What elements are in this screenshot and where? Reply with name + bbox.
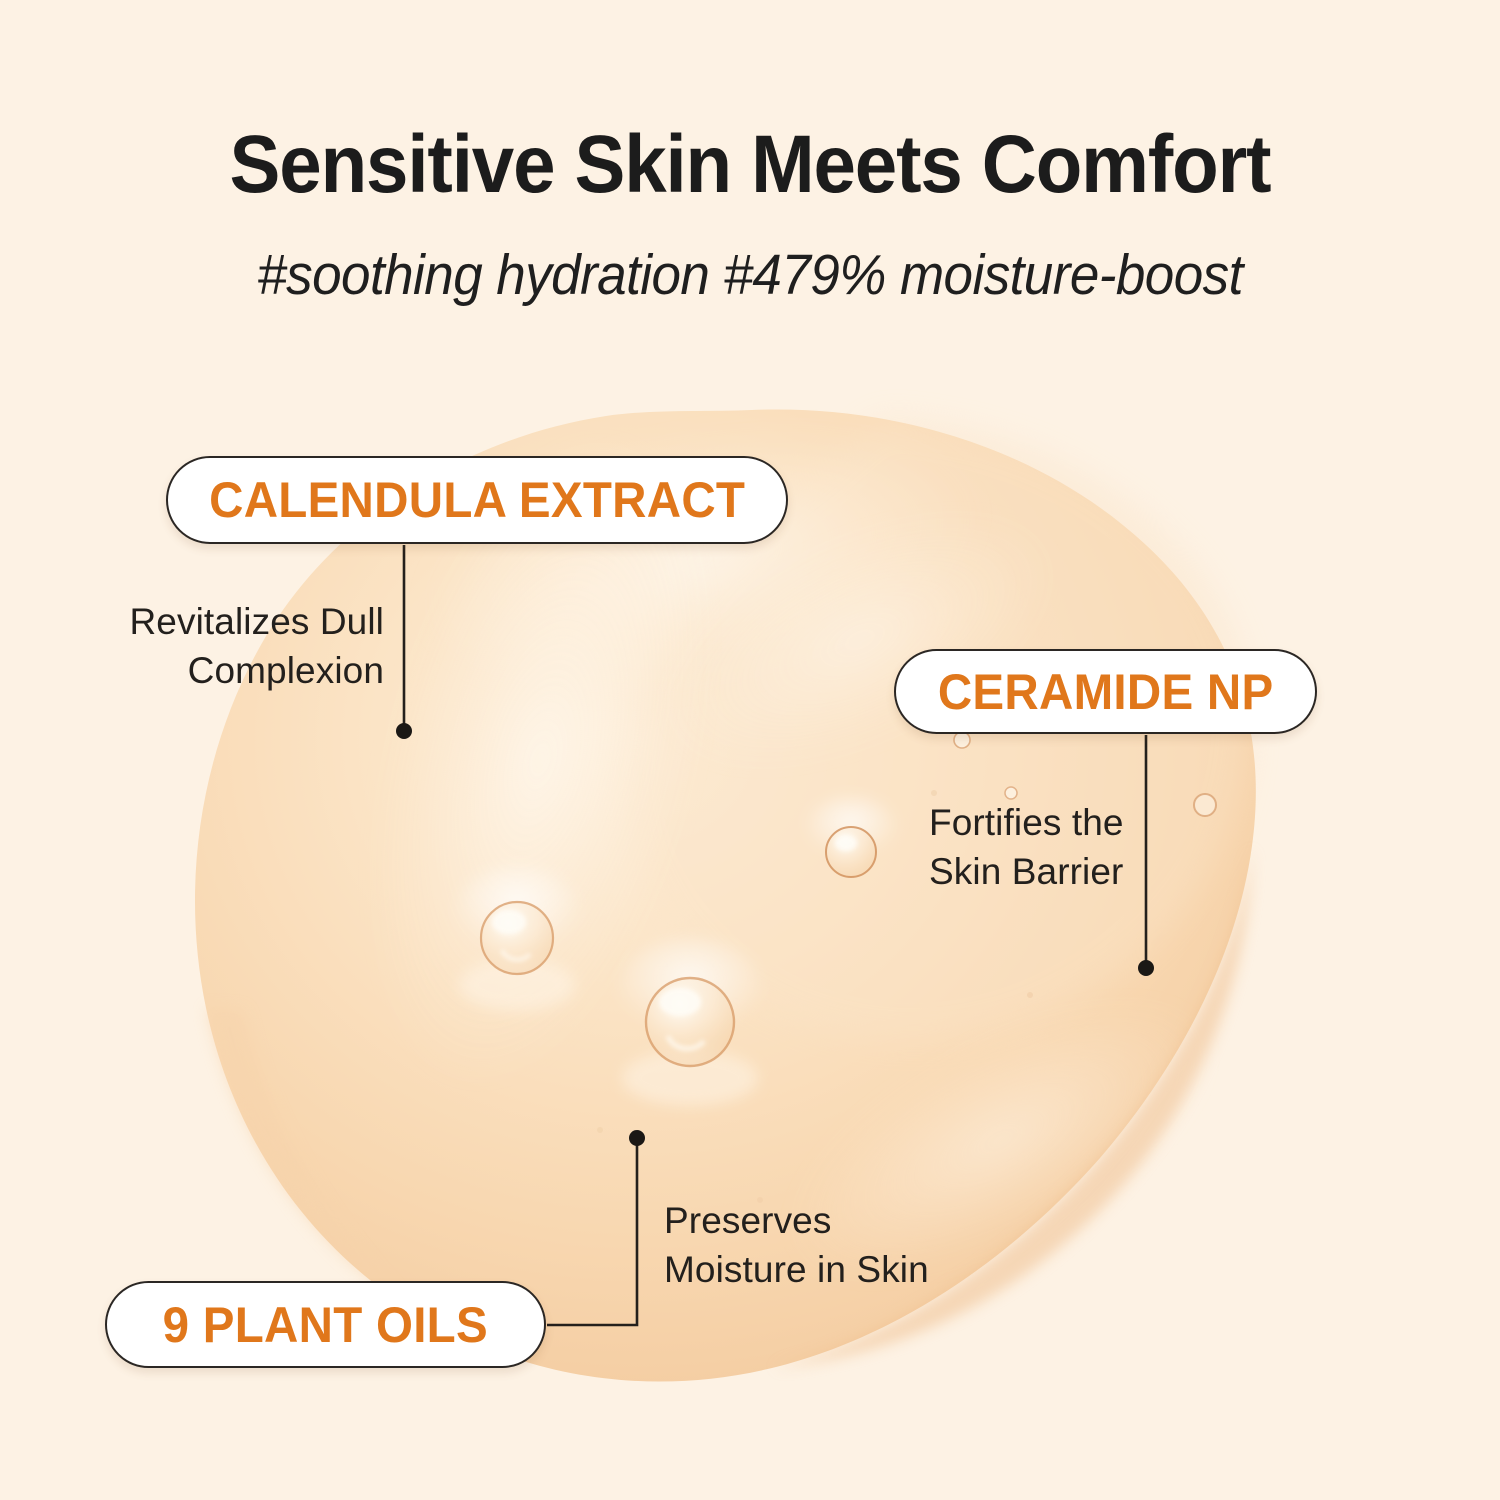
- serum-bubble-speck-4: [597, 1127, 603, 1133]
- benefit-caption-line: Preserves: [664, 1196, 964, 1245]
- benefit-caption-line: Complexion: [84, 646, 384, 695]
- ingredient-pill-ceramide-np[interactable]: CERAMIDE NP: [894, 649, 1317, 734]
- serum-bubble-small-1: [954, 732, 970, 748]
- page-title: Sensitive Skin Meets Comfort: [53, 118, 1448, 212]
- benefit-caption-calendula: Revitalizes Dull Complexion: [84, 597, 384, 695]
- serum-bubble-large-1: [455, 866, 579, 1011]
- ingredient-pill-label: CALENDULA EXTRACT: [209, 471, 745, 529]
- serum-bubble-medium: [805, 796, 897, 877]
- serum-bubble-large-2: [618, 938, 762, 1106]
- product-infographic: Sensitive Skin Meets Comfort #soothing h…: [0, 0, 1500, 1500]
- benefit-caption-line: Revitalizes Dull: [84, 597, 384, 646]
- connector-plantoils: [547, 1130, 645, 1325]
- serum-bubble-speck-1: [931, 790, 937, 796]
- ingredient-pill-label: CERAMIDE NP: [938, 663, 1274, 721]
- page-subtitle: #soothing hydration #479% moisture-boost: [53, 242, 1448, 308]
- benefit-caption-line: Skin Barrier: [929, 847, 1189, 896]
- benefit-caption-ceramide: Fortifies the Skin Barrier: [929, 798, 1189, 896]
- benefit-caption-line: Moisture in Skin: [664, 1245, 964, 1294]
- serum-bubble-speck-2: [1027, 992, 1033, 998]
- benefit-caption-line: Fortifies the: [929, 798, 1189, 847]
- ingredient-pill-calendula-extract[interactable]: CALENDULA EXTRACT: [166, 456, 788, 544]
- ingredient-pill-label: 9 PLANT OILS: [163, 1296, 488, 1354]
- serum-bubble-small-3: [1194, 794, 1216, 816]
- ingredient-pill-9-plant-oils[interactable]: 9 PLANT OILS: [105, 1281, 546, 1368]
- benefit-caption-plant-oils: Preserves Moisture in Skin: [664, 1196, 964, 1294]
- connector-calendula: [396, 545, 412, 739]
